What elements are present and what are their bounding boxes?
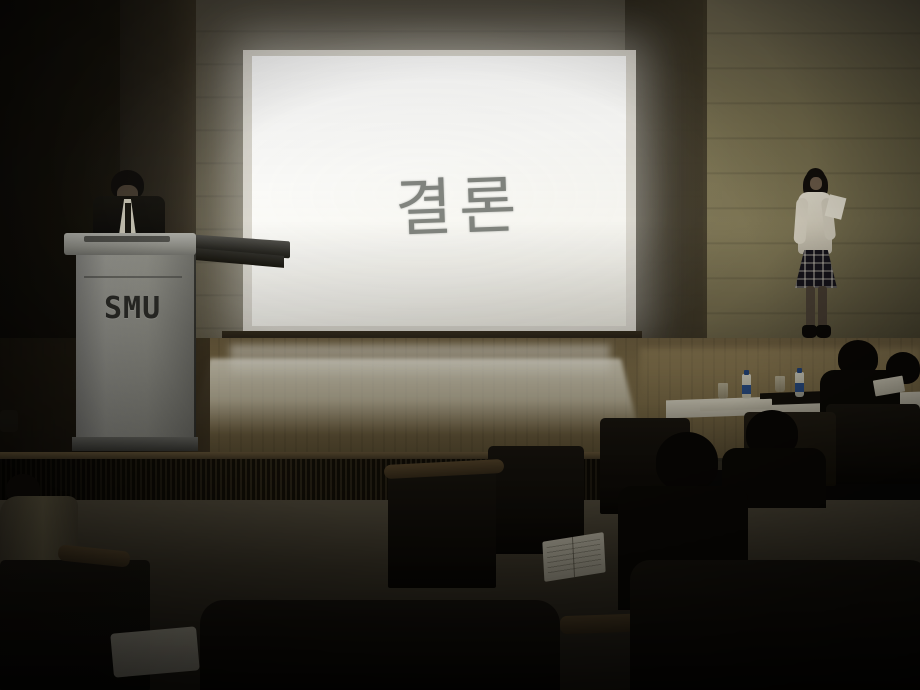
audience-seat (200, 600, 560, 690)
bottle-label (742, 385, 751, 394)
floor-light-hotspot (230, 345, 610, 380)
standing-woman-right-boot (816, 325, 831, 338)
bottle-cap (744, 370, 749, 375)
water-bottle (742, 374, 751, 399)
bottle-label (795, 383, 804, 392)
standing-woman-right-leg (818, 286, 827, 328)
slide-title-text: 결론 (267, 60, 650, 343)
water-bottle (795, 372, 804, 397)
drinking-cup (718, 383, 728, 399)
audience-seat (388, 470, 496, 588)
podium-base (72, 437, 198, 451)
podium-smu-logo: SMU (104, 294, 161, 324)
auditorium-scene: 결론 SMU (0, 0, 920, 690)
standing-woman-face (810, 177, 822, 190)
standing-woman-left-leg (806, 286, 815, 328)
bottle-cap (797, 368, 802, 373)
standing-woman-left-boot (802, 325, 817, 338)
presenter-tie (125, 203, 131, 235)
audience-seat (630, 560, 920, 690)
audience-papers (110, 626, 200, 677)
audience-reader-head (656, 432, 718, 490)
drinking-cup (775, 376, 785, 392)
audience-seat (826, 404, 920, 484)
stage-side-object (0, 410, 18, 432)
podium-top-inset (84, 236, 170, 242)
